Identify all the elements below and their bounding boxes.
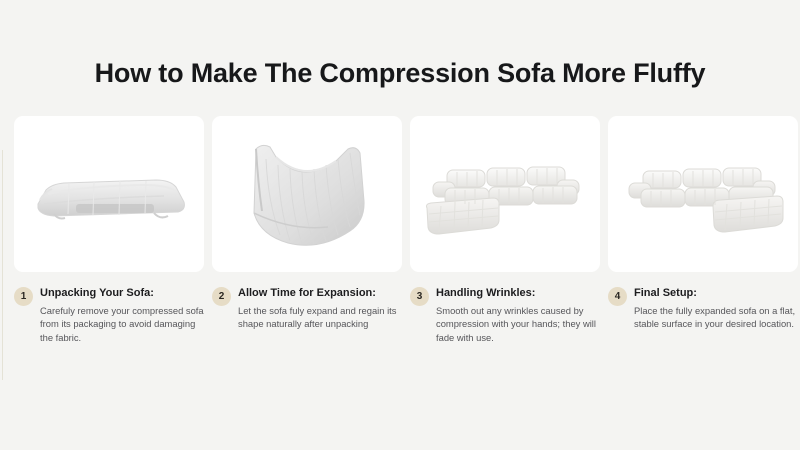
step-card-2: 2 Allow Time for Expansion: Let the sofa…	[212, 116, 402, 344]
step-card-3: 3 Handling Wrinkles: Smooth out any wrin…	[410, 116, 600, 344]
step-text-4: 4 Final Setup: Place the fully expanded …	[608, 286, 798, 331]
step-description-1: Carefuly remove your compressed sofa fro…	[40, 304, 204, 344]
step-title-4: Final Setup:	[634, 286, 798, 300]
left-divider-rule	[2, 150, 3, 380]
step-title-1: Unpacking Your Sofa:	[40, 286, 204, 300]
step-description-4: Place the fully expanded sofa on a flat,…	[634, 304, 798, 331]
step-title-2: Allow Time for Expansion:	[238, 286, 402, 300]
step-number-badge-1: 1	[14, 287, 33, 306]
steps-row: 1 Unpacking Your Sofa: Carefuly remove y…	[14, 116, 790, 344]
step-number-badge-3: 3	[410, 287, 429, 306]
step-description-3: Smooth out any wrinkles caused by compre…	[436, 304, 600, 344]
step-text-column-2: Allow Time for Expansion: Let the sofa f…	[238, 286, 402, 331]
step-text-2: 2 Allow Time for Expansion: Let the sofa…	[212, 286, 402, 331]
infographic-page: How to Make The Compression Sofa More Fl…	[0, 0, 800, 450]
step-text-column-3: Handling Wrinkles: Smooth out any wrinkl…	[436, 286, 600, 344]
step-description-2: Let the sofa fuly expand and regain its …	[238, 304, 402, 331]
step-text-1: 1 Unpacking Your Sofa: Carefuly remove y…	[14, 286, 204, 344]
step-image-card-1	[14, 116, 204, 272]
sectional-sofa-left-chaise-icon	[410, 116, 600, 272]
step-card-4: 4 Final Setup: Place the fully expanded …	[608, 116, 798, 344]
step-text-column-4: Final Setup: Place the fully expanded so…	[634, 286, 798, 331]
sectional-sofa-right-chaise-icon	[608, 116, 798, 272]
expanding-sofa-icon	[212, 116, 402, 272]
step-image-card-2	[212, 116, 402, 272]
step-text-3: 3 Handling Wrinkles: Smooth out any wrin…	[410, 286, 600, 344]
step-image-card-4	[608, 116, 798, 272]
step-text-column-1: Unpacking Your Sofa: Carefuly remove you…	[40, 286, 204, 344]
step-title-3: Handling Wrinkles:	[436, 286, 600, 300]
step-number-badge-4: 4	[608, 287, 627, 306]
step-image-card-3	[410, 116, 600, 272]
page-title: How to Make The Compression Sofa More Fl…	[0, 58, 800, 89]
step-card-1: 1 Unpacking Your Sofa: Carefuly remove y…	[14, 116, 204, 344]
step-number-badge-2: 2	[212, 287, 231, 306]
compressed-sofa-packaging-icon	[14, 116, 204, 272]
